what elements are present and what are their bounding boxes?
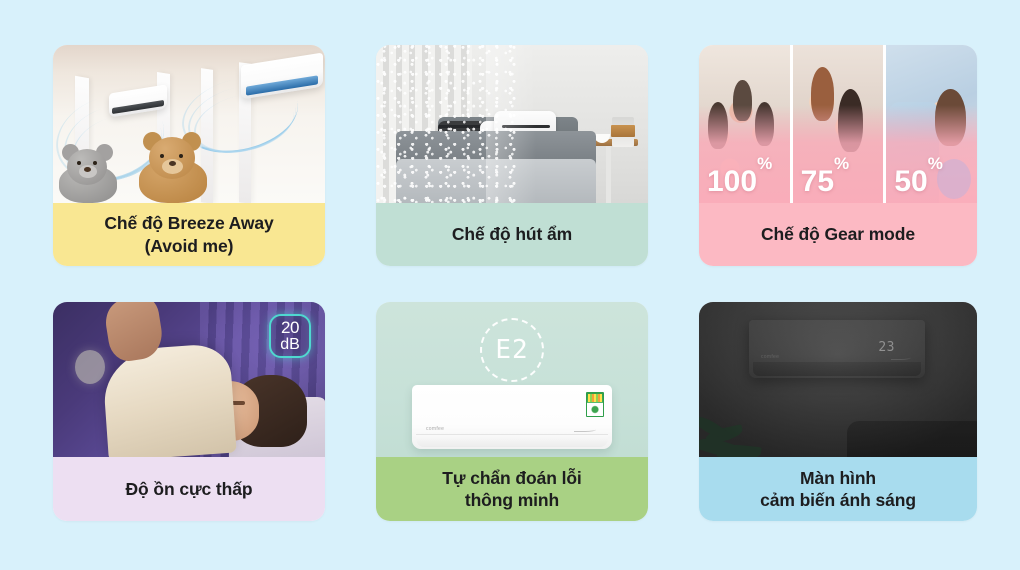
- air-outlet: [416, 434, 608, 447]
- error-code-text: E2: [495, 335, 528, 365]
- air-conditioner-unit: [241, 53, 323, 100]
- scene-gear-mode: 100% 75%: [699, 45, 977, 203]
- caption-line: Chế độ Breeze Away: [104, 212, 273, 234]
- moisture-fade-overlay: [486, 45, 536, 203]
- feature-card-self-diagnosis[interactable]: E2 comfee Tự chẩn đoán lỗi thông minh: [376, 302, 648, 521]
- caption-line: Tự chẩn đoán lỗi: [442, 467, 581, 489]
- feature-image-dehumidify: [376, 45, 648, 203]
- feature-image-breeze-away: [53, 45, 325, 203]
- gear-level-unit: %: [834, 154, 849, 173]
- table-lamp-icon: [612, 117, 634, 147]
- noise-level-unit: dB: [280, 337, 300, 353]
- brand-mark: comfee: [426, 426, 444, 432]
- scene-self-diagnosis: E2 comfee: [376, 302, 648, 457]
- feature-image-light-sensor-display: 23 comfee: [699, 302, 977, 457]
- noise-level-value: 20: [281, 319, 299, 336]
- caption-line: cảm biến ánh sáng: [760, 489, 916, 511]
- feature-card-low-noise[interactable]: 20 dB Độ ồn cực thấp: [53, 302, 325, 521]
- feature-caption-self-diagnosis: Tự chẩn đoán lỗi thông minh: [376, 457, 648, 521]
- vignette-overlay: [699, 302, 977, 457]
- scene-dark-room: 23 comfee: [699, 302, 977, 457]
- teddy-bear-grey-icon: [55, 141, 121, 203]
- air-vent: [246, 75, 318, 95]
- feature-image-gear-mode: 100% 75%: [699, 45, 977, 203]
- caption-line: thông minh: [465, 489, 559, 511]
- wall-clock-icon: [75, 350, 105, 384]
- scene-bedroom: [376, 45, 648, 203]
- feature-image-low-noise: 20 dB: [53, 302, 325, 457]
- caption-line: (Avoid me): [145, 235, 234, 257]
- feature-card-gear-mode[interactable]: 100% 75%: [699, 45, 977, 266]
- gear-level-label: 50%: [894, 166, 943, 197]
- feature-image-self-diagnosis: E2 comfee: [376, 302, 648, 457]
- noise-level-badge: 20 dB: [269, 314, 311, 358]
- feature-caption-gear-mode: Chế độ Gear mode: [699, 203, 977, 266]
- gear-panel: 100%: [699, 45, 790, 203]
- gear-panel: 75%: [790, 45, 884, 203]
- error-code-circle-icon: E2: [480, 318, 544, 382]
- scene-night-bedroom: 20 dB: [53, 302, 325, 457]
- caption-line: Màn hình: [800, 467, 876, 489]
- gear-level-value: 75: [801, 165, 834, 198]
- caption-line: Chế độ Gear mode: [761, 223, 915, 245]
- gear-level-unit: %: [928, 154, 943, 173]
- gear-level-label: 100%: [707, 166, 772, 197]
- gear-level-value: 100: [707, 165, 757, 198]
- scene-breeze-away: [53, 45, 325, 203]
- feature-card-breeze-away[interactable]: Chế độ Breeze Away (Avoid me): [53, 45, 325, 266]
- gear-level-unit: %: [757, 154, 772, 173]
- feature-caption-breeze-away: Chế độ Breeze Away (Avoid me): [53, 203, 325, 266]
- gear-level-label: 75%: [801, 166, 850, 197]
- caption-line: Độ ồn cực thấp: [126, 478, 253, 500]
- teddy-bear-brown-icon: [135, 131, 211, 203]
- energy-rating-label: [586, 392, 604, 417]
- feature-grid: Chế độ Breeze Away (Avoid me): [53, 45, 972, 521]
- feature-caption-light-sensor-display: Màn hình cảm biến ánh sáng: [699, 457, 977, 521]
- feature-caption-low-noise: Độ ồn cực thấp: [53, 457, 325, 521]
- feature-card-light-sensor-display[interactable]: 23 comfee Màn hình cảm biến ánh sáng: [699, 302, 977, 521]
- decorative-swoosh: [574, 427, 596, 432]
- gear-panel: 50%: [883, 45, 977, 203]
- air-conditioner-unit: comfee: [412, 385, 612, 449]
- caption-line: Chế độ hút ẩm: [452, 223, 572, 245]
- feature-card-dehumidify[interactable]: Chế độ hút ẩm: [376, 45, 648, 266]
- gear-level-value: 50: [894, 165, 927, 198]
- feature-caption-dehumidify: Chế độ hút ẩm: [376, 203, 648, 266]
